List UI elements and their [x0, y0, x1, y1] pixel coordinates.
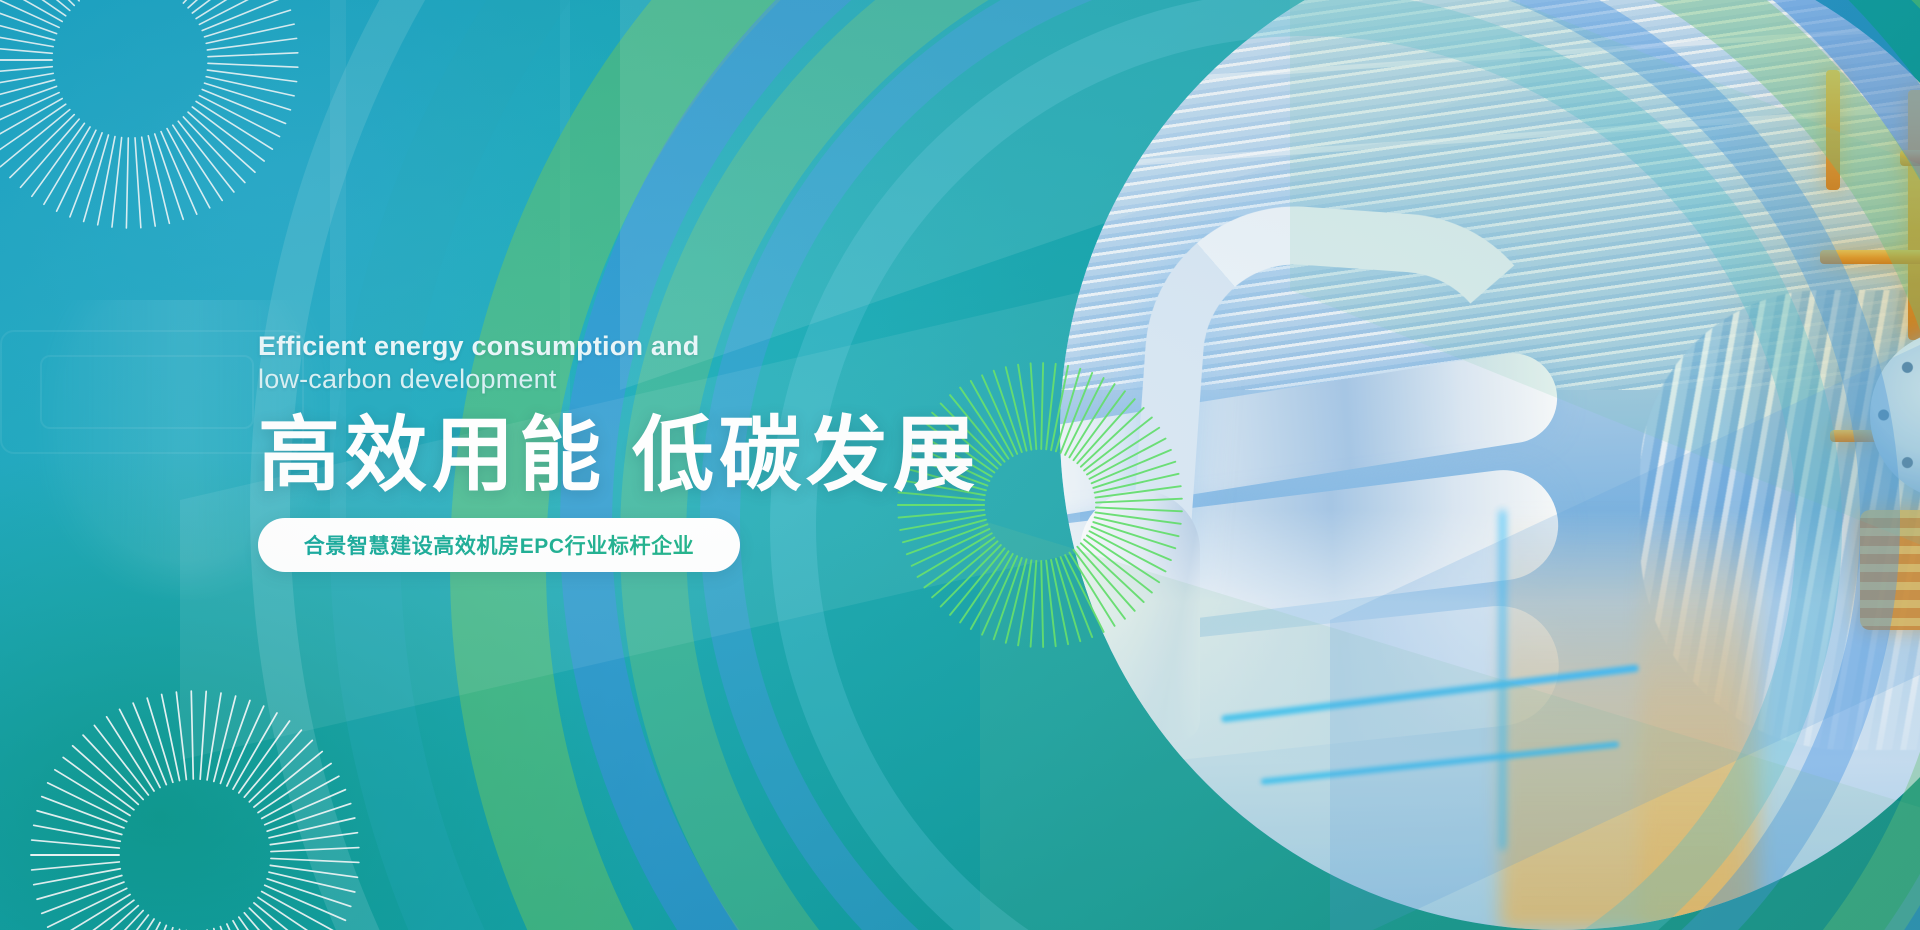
photo-top-shade	[1060, 0, 1920, 930]
headline-part-1: 高效用能	[258, 410, 606, 501]
english-heading-line2: low-carbon development	[258, 363, 1018, 396]
industrial-photo	[1060, 0, 1920, 930]
english-heading-line1: Efficient energy consumption and	[258, 330, 1018, 363]
sunburst-icon-top-left	[0, 0, 300, 230]
hero-copy: Efficient energy consumption and low-car…	[258, 330, 1018, 502]
headline-part-2: 低碳发展	[632, 410, 980, 501]
sunburst-icon-bottom-left	[30, 690, 360, 930]
background-wash-top-left	[0, 0, 780, 600]
ghost-structure-outline-2	[40, 355, 254, 429]
cta-button[interactable]: 合景智慧建设高效机房EPC行业标杆企业	[258, 518, 740, 572]
cta-button-label: 合景智慧建设高效机房EPC行业标杆企业	[304, 530, 695, 560]
hero-banner: Efficient energy consumption and low-car…	[0, 0, 1920, 930]
page-title: 高效用能低碳发展	[258, 410, 1018, 502]
